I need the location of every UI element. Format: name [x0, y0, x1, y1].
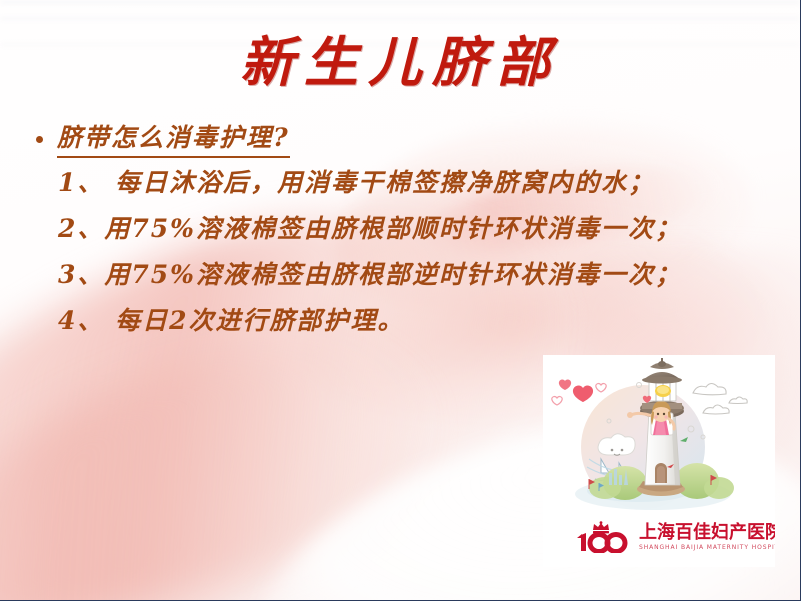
logo-wordmark: 上海百佳妇产医院 SHANGHAI BAIJIA MATERNITY HOSPI… — [639, 524, 775, 551]
presentation-slide: 新生儿脐部 脐带怎么消毒护理? 1、 每日沐浴后，用消毒干棉签擦净脐窝内的水； … — [0, 0, 801, 601]
logo-name-cn: 上海百佳妇产医院 — [639, 524, 775, 542]
list-item: 2、用75%溶液棉签由脐根部顺时针环状消毒一次； — [58, 216, 756, 241]
logo-name-en: SHANGHAI BAIJIA MATERNITY HOSPITAL — [639, 545, 775, 551]
logo-100-mark-icon — [575, 521, 631, 553]
list-item: 1、 每日沐浴后，用消毒干棉签擦净脐窝内的水； — [58, 170, 756, 195]
hospital-logo: 上海百佳妇产医院 SHANGHAI BAIJIA MATERNITY HOSPI… — [575, 515, 753, 559]
list-item: 3、用75%溶液棉签由脐根部逆时针环状消毒一次； — [58, 262, 756, 287]
bullet-dot-icon — [36, 136, 43, 143]
picture-card: 上海百佳妇产医院 SHANGHAI BAIJIA MATERNITY HOSPI… — [543, 355, 775, 567]
lighthouse-illustration — [543, 355, 775, 513]
bullet-heading-text: 脐带怎么消毒护理? — [57, 122, 290, 158]
page-title: 新生儿脐部 — [0, 34, 800, 91]
list-item: 4、 每日2次进行脐部护理。 — [58, 308, 756, 333]
slide-body: 脐带怎么消毒护理? 1、 每日沐浴后，用消毒干棉签擦净脐窝内的水； 2、用75%… — [36, 122, 756, 354]
bullet-heading-row: 脐带怎么消毒护理? — [36, 122, 756, 158]
